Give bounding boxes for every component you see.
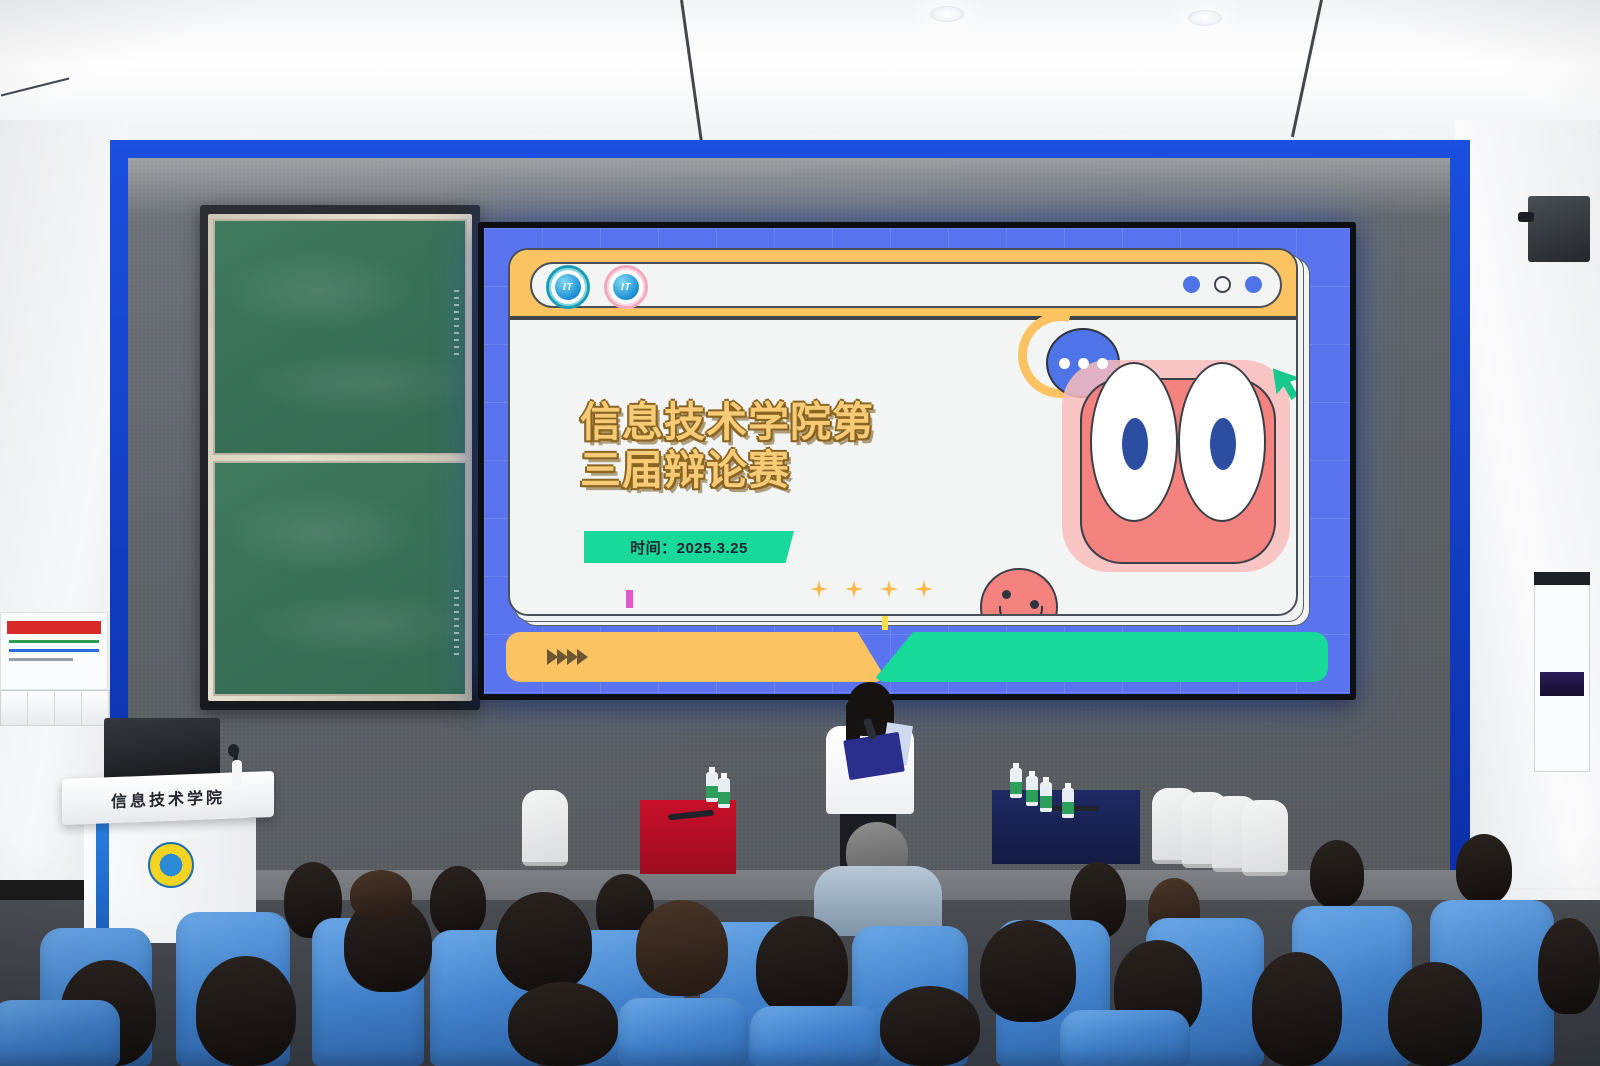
pink-accent — [626, 590, 633, 608]
slide-title-line-1: 信息技术学院第 — [580, 398, 1000, 446]
table-microphone — [1052, 806, 1098, 811]
ceiling — [0, 0, 1600, 160]
chalkboard-track — [454, 290, 459, 360]
logo-text-left: IT — [555, 274, 581, 300]
star-icon — [810, 580, 828, 598]
water-bottle — [718, 778, 730, 808]
lectern-label: 信息技术学院 — [111, 784, 225, 812]
star-icon — [880, 580, 898, 598]
poster-line — [9, 649, 99, 652]
logo-text-right: IT — [613, 274, 639, 300]
sanitizer-bottle — [232, 760, 242, 786]
date-badge: 时间：2025.3.25 — [584, 531, 794, 563]
character-pupil-right — [1210, 418, 1236, 470]
slide-card: IT IT 信息技术学院第 三届辩论赛 — [508, 248, 1298, 616]
switch[interactable] — [28, 691, 55, 725]
water-bottle — [1062, 788, 1074, 818]
water-bottle — [1040, 782, 1052, 812]
water-bottle — [1010, 768, 1022, 798]
white-chair — [522, 790, 568, 866]
bubble-dot — [1059, 358, 1070, 369]
slide-title: 信息技术学院第 三届辩论赛 — [580, 398, 1000, 495]
downlight — [930, 6, 964, 22]
audience-head — [980, 920, 1076, 1022]
audience-head — [430, 866, 486, 938]
control-panel-display — [1540, 672, 1584, 696]
downlight — [1188, 10, 1222, 26]
control-panel-header — [1534, 572, 1590, 585]
footer-bar-green — [872, 632, 1328, 682]
auditorium-seat — [1060, 1010, 1190, 1066]
speaker-bracket — [1518, 212, 1534, 222]
character-pupil-left — [1122, 418, 1148, 470]
poster-header — [7, 621, 101, 634]
white-chair — [1242, 800, 1288, 876]
presentation-slide[interactable]: IT IT 信息技术学院第 三届辩论赛 — [484, 228, 1350, 694]
audience-hairband — [350, 870, 412, 920]
auditorium-seat — [750, 1006, 880, 1066]
mic-head — [228, 744, 239, 757]
lecture-hall-scene: IT IT 信息技术学院第 三届辩论赛 — [0, 0, 1600, 1066]
auditorium-seat — [618, 998, 748, 1066]
yellow-accent — [882, 616, 888, 630]
auditorium-seat — [0, 1000, 120, 1066]
poster-line — [9, 640, 99, 643]
date-text: 时间：2025.3.25 — [630, 537, 748, 558]
bubble-dot — [1097, 358, 1108, 369]
smiley-mouth — [999, 606, 1043, 616]
slide-title-line-2: 三届辩论赛 — [580, 446, 1000, 494]
audience-head — [636, 900, 728, 996]
switch[interactable] — [55, 691, 82, 725]
footer-bar-yellow — [506, 632, 888, 682]
switch[interactable] — [1, 691, 28, 725]
lectern-stripe — [96, 818, 109, 940]
red-judges-table — [640, 800, 736, 874]
audience-head — [1388, 962, 1482, 1066]
chevron-right-icon — [577, 649, 588, 665]
college-logo-pink: IT — [604, 265, 648, 309]
sparkle-stars — [810, 580, 933, 598]
lectern: 信息技术学院 — [62, 771, 274, 825]
audience-head — [196, 956, 296, 1066]
star-icon — [845, 580, 863, 598]
chalkboard-panel-top — [213, 219, 467, 455]
window-control-dots[interactable] — [1183, 276, 1262, 293]
light-switch-panel[interactable] — [0, 690, 110, 726]
lectern-monitor — [104, 718, 220, 780]
water-bottle — [706, 772, 718, 802]
chalkboard — [200, 205, 480, 710]
college-seal — [148, 842, 194, 888]
audience-head — [1538, 918, 1600, 1014]
smiley-face-icon — [980, 568, 1058, 616]
chalkboard-frame — [208, 214, 472, 701]
audience-head — [508, 982, 618, 1066]
window-dot-blue[interactable] — [1183, 276, 1200, 293]
window-dot-blue[interactable] — [1245, 276, 1262, 293]
audience-head — [1252, 952, 1342, 1066]
audience-head — [1456, 834, 1512, 904]
poster-line — [9, 658, 73, 661]
chalkboard-panel-bottom — [213, 461, 467, 697]
window-dot-hollow[interactable] — [1214, 276, 1231, 293]
college-logo-teal: IT — [546, 265, 590, 309]
water-bottle — [1026, 776, 1038, 806]
smiley-eye — [1002, 590, 1011, 599]
wall-poster — [0, 612, 108, 690]
chalkboard-track — [454, 590, 459, 660]
audience-head — [496, 892, 592, 992]
audience-head — [756, 916, 848, 1016]
wall-speaker — [1528, 196, 1590, 262]
star-icon — [915, 580, 933, 598]
bubble-dot — [1078, 358, 1089, 369]
audience-head — [880, 986, 980, 1066]
audience-head — [1310, 840, 1364, 908]
